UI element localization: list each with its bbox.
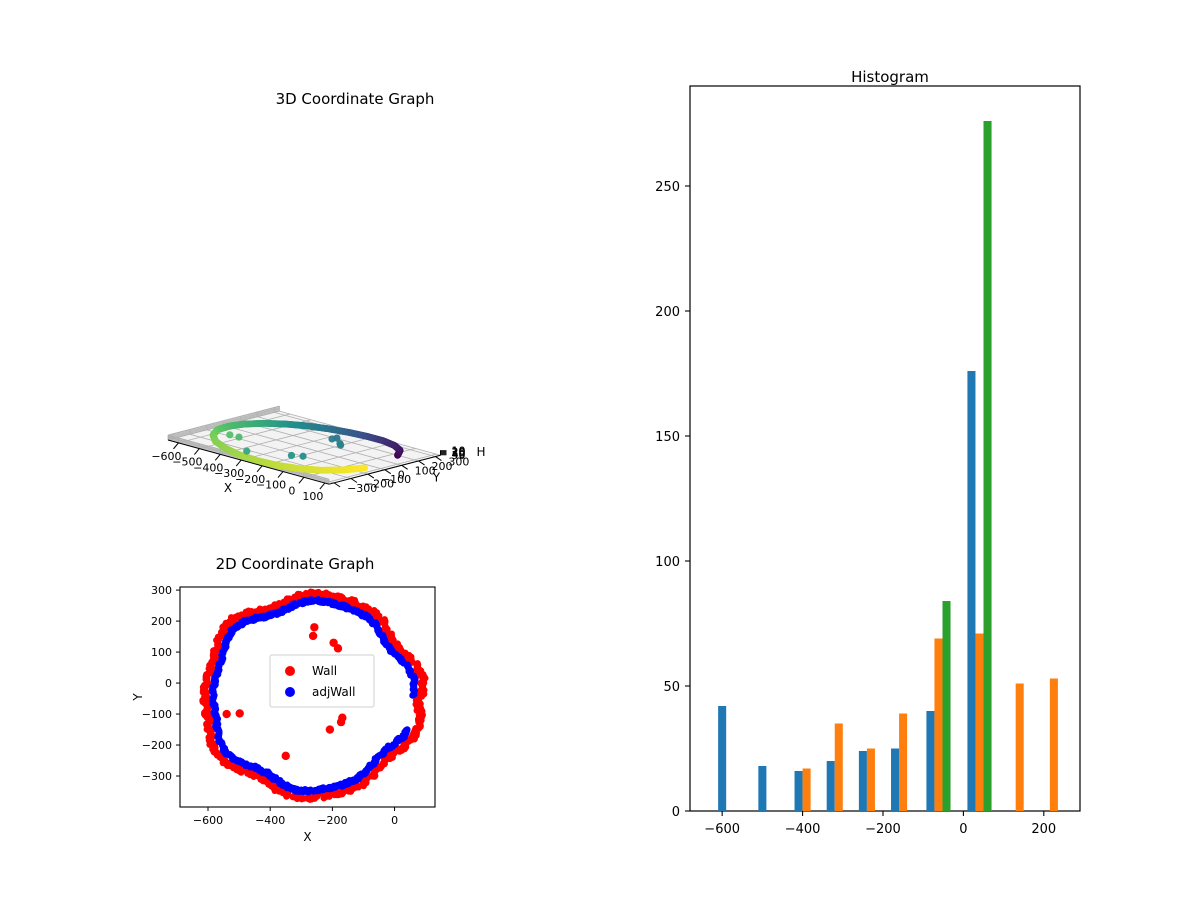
histogram-bar	[795, 771, 803, 811]
histogram-bar	[967, 371, 975, 811]
svg-text:0: 0	[165, 677, 172, 690]
legend-marker-wall	[285, 666, 295, 676]
histogram-canvas[interactable]: −600−400−2000200050100150200250	[660, 60, 1120, 860]
wall-outlier-point	[236, 709, 244, 717]
svg-text:250: 250	[655, 180, 680, 195]
histogram-bar	[891, 749, 899, 812]
plot3d-axes: −600−500−400−300−200−1000100X−300−200−10…	[151, 406, 485, 503]
svg-text:100: 100	[655, 555, 680, 570]
histogram-bar	[926, 711, 934, 811]
svg-text:150: 150	[655, 430, 680, 445]
panel-3d-coordinate-graph: 3D Coordinate Graph −600−500−400−300−200…	[130, 75, 580, 525]
plot3d-canvas[interactable]: −600−500−400−300−200−1000100X−300−200−10…	[130, 75, 580, 525]
legend-marker-adjwall	[285, 687, 295, 697]
svg-text:−100: −100	[142, 708, 172, 721]
plot3d-title: 3D Coordinate Graph	[130, 90, 580, 108]
histogram-bar	[859, 751, 867, 811]
svg-text:0: 0	[398, 469, 405, 482]
svg-text:0: 0	[391, 814, 398, 827]
wall-outlier-point	[338, 714, 346, 722]
svg-text:0: 0	[288, 484, 295, 497]
panel-2d-coordinate-graph: 2D Coordinate Graph −600−400−2000−300−20…	[130, 555, 460, 865]
plot2d-title: 2D Coordinate Graph	[130, 555, 460, 573]
histogram-bar	[984, 121, 992, 811]
wall-outlier-point	[309, 632, 317, 640]
panel-histogram: Histogram −600−400−200020005010015020025…	[660, 60, 1120, 860]
wall-outlier-point	[282, 752, 290, 760]
plot2d-canvas[interactable]: −600−400−2000−300−200−1000100200300XYWal…	[130, 555, 460, 865]
histogram-bar	[867, 749, 875, 812]
plot2d-xlabel: X	[303, 830, 311, 844]
plot2d-legend: WalladjWall	[270, 655, 374, 707]
wall-outlier-point	[334, 644, 342, 652]
wall-outlier-point	[326, 725, 334, 733]
svg-text:−600: −600	[193, 814, 223, 827]
legend-label-wall: Wall	[312, 664, 337, 678]
svg-text:300: 300	[151, 584, 172, 597]
histogram-bar	[803, 769, 811, 812]
plot3d-zlabel: H	[477, 445, 486, 459]
plot2d-ylabel: Y	[131, 693, 145, 702]
histogram-bar	[934, 639, 942, 812]
svg-text:200: 200	[1031, 822, 1056, 837]
wall-outlier-point	[222, 710, 230, 718]
plot3d-ylabel: Y	[432, 471, 441, 485]
histogram-bar	[975, 634, 983, 812]
svg-text:0: 0	[672, 805, 680, 820]
svg-text:−200: −200	[865, 822, 901, 837]
svg-text:200: 200	[151, 615, 172, 628]
svg-text:200: 200	[655, 305, 680, 320]
svg-text:100: 100	[151, 646, 172, 659]
svg-text:−600: −600	[704, 822, 740, 837]
histogram-bar	[1050, 679, 1058, 812]
histogram-bar	[758, 766, 766, 811]
histogram-title: Histogram	[690, 68, 1090, 86]
histogram-bar	[899, 714, 907, 812]
histogram-bar	[1016, 684, 1024, 812]
svg-text:50: 50	[663, 680, 680, 695]
wall-outlier-point	[310, 623, 318, 631]
svg-text:50: 50	[452, 449, 466, 462]
plot3d-xlabel: X	[224, 481, 232, 495]
svg-text:100: 100	[302, 490, 323, 503]
svg-text:−400: −400	[255, 814, 285, 827]
svg-text:−100: −100	[381, 473, 411, 486]
svg-text:0: 0	[959, 822, 967, 837]
legend-box	[270, 655, 374, 707]
plot2d-axes: −600−400−2000−300−200−1000100200300XYWal…	[131, 584, 435, 844]
histogram-bar	[718, 706, 726, 811]
histogram-bar	[942, 601, 950, 811]
histogram-bar	[827, 761, 835, 811]
svg-text:−300: −300	[142, 770, 172, 783]
matplotlib-figure: 3D Coordinate Graph −600−500−400−300−200…	[0, 0, 1200, 900]
svg-text:−400: −400	[785, 822, 821, 837]
histogram-axes: −600−400−2000200050100150200250	[655, 86, 1080, 837]
histogram-bar	[835, 724, 843, 812]
svg-text:−200: −200	[317, 814, 347, 827]
svg-text:−200: −200	[142, 739, 172, 752]
svg-text:−100: −100	[256, 479, 286, 492]
legend-label-adjwall: adjWall	[312, 685, 355, 699]
